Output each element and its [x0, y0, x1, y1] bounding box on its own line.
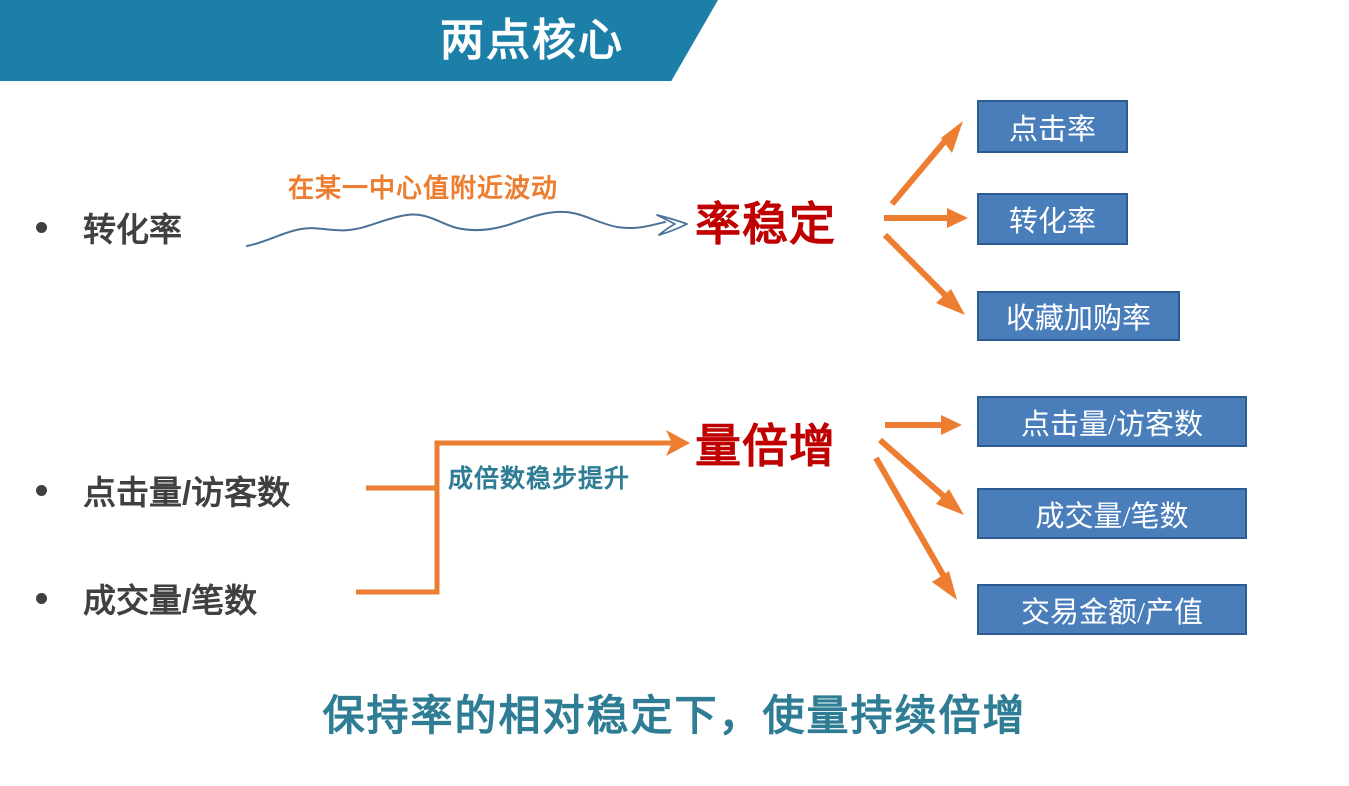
bullet-item-clicks-visitors: 点击量/访客数 [36, 466, 290, 514]
bullet-label: 转化率 [83, 203, 182, 251]
metric-box-click-rate[interactable]: 点击率 [977, 100, 1128, 153]
arrow-down-right-icon [885, 235, 965, 315]
arrow-group-volume [0, 0, 1349, 786]
arrow-right-icon [884, 208, 968, 228]
annotation-steady-multiple-growth: 成倍数稳步提升 [448, 459, 630, 495]
bullet-item-orders-count: 成交量/笔数 [36, 574, 257, 622]
arrow-right-icon [885, 415, 962, 435]
page-title: 两点核心 [440, 8, 680, 74]
metric-box-click-visitor-volume[interactable]: 点击量/访客数 [977, 396, 1247, 447]
metric-box-favorite-cart-rate[interactable]: 收藏加购率 [977, 291, 1180, 341]
metric-box-transaction-order-volume[interactable]: 成交量/笔数 [977, 488, 1247, 539]
emphasis-rate-stable: 率稳定 [695, 188, 836, 254]
wavy-trend-line-arrow-icon [245, 198, 705, 254]
bullet-dot-icon [36, 485, 47, 496]
bullet-label: 成交量/笔数 [83, 574, 257, 622]
merge-bracket-arrow-icon [0, 0, 1349, 786]
bullet-label: 点击量/访客数 [83, 466, 290, 514]
arrow-down-right-icon [880, 440, 964, 515]
metric-box-transaction-amount-gmv[interactable]: 交易金额/产值 [977, 584, 1247, 635]
bullet-item-conversion-rate: 转化率 [36, 203, 182, 251]
arrow-up-right-icon [892, 121, 963, 204]
bullet-dot-icon [36, 593, 47, 604]
bullet-dot-icon [36, 222, 47, 233]
arrow-group-rate [0, 0, 1349, 786]
conclusion-text: 保持率的相对稳定下，使量持续倍增 [0, 682, 1349, 743]
emphasis-volume-grow: 量倍增 [695, 410, 836, 476]
arrow-down-right-icon [876, 458, 957, 600]
slide-canvas: 两点核心 转化率 点击量/访客数 成交量/笔数 在某一中心值附近波动 率稳定 量… [0, 0, 1349, 786]
metric-box-conversion-rate[interactable]: 转化率 [977, 193, 1128, 245]
